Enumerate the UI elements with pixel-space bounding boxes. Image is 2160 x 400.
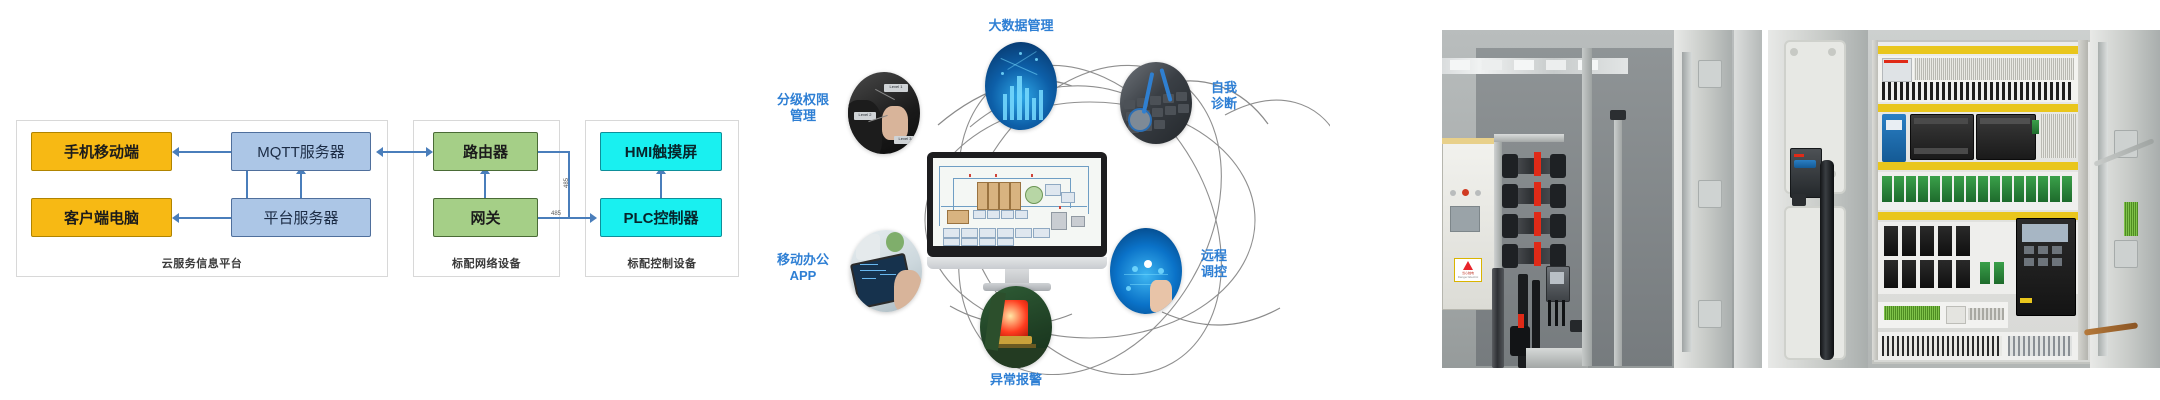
screenshot-root: 云服务信息平台 标配网络设备 标配控制设备: [0, 0, 2160, 400]
electric-warning-sticker: 当心触电 Danger Electric: [1454, 258, 1482, 282]
bar-chart-network-icon: [985, 42, 1057, 130]
bubble-label-authority: 分级权限 管理: [760, 92, 846, 125]
bubble-mobileapp[interactable]: [850, 230, 922, 312]
bubble-authority[interactable]: Level 1 Level 2 Level 3: [848, 72, 920, 154]
link-bus-to-plc-h: [568, 217, 592, 219]
bubble-alarm[interactable]: [980, 286, 1052, 368]
node-desktop-client[interactable]: 客户端电脑: [31, 198, 172, 237]
link-router-bus-h: [534, 151, 570, 153]
bubble-label-alarm: 异常报警: [956, 372, 1076, 388]
link-mqtt-router: [382, 151, 428, 153]
globe-network-icon: [1110, 228, 1182, 314]
link-platform-to-client-h: [178, 217, 232, 219]
bus-label-485-upper: 485: [564, 178, 570, 188]
node-router[interactable]: 路由器: [433, 132, 538, 171]
node-plc-controller[interactable]: PLC控制器: [600, 198, 722, 237]
level-chip-3: Level 3: [894, 136, 916, 144]
link-gateway-bus-h: [534, 217, 568, 219]
node-mobile-client[interactable]: 手机移动端: [31, 132, 172, 171]
group-cloud-platform-label: 云服务信息平台: [17, 255, 387, 271]
bubble-bigdata[interactable]: [985, 42, 1057, 130]
group-control-devices-label: 标配控制设备: [586, 255, 738, 271]
system-architecture-diagram: 云服务信息平台 标配网络设备 标配控制设备: [0, 0, 720, 400]
central-monitor: [927, 152, 1107, 292]
bubble-remote[interactable]: [1110, 228, 1182, 314]
capability-circle-infographic: 大数据管理 Level 1 Level 2 Level 3 分级权限 管理: [720, 0, 1440, 400]
tablet-hand-icon: [850, 230, 922, 312]
level-chip-1: Level 1: [884, 84, 908, 92]
arrow-router-right: [426, 147, 433, 157]
monitor-screen: [933, 158, 1101, 246]
node-platform-server[interactable]: 平台服务器: [231, 198, 371, 237]
stethoscope-laptop-icon: [1120, 62, 1192, 144]
arrow-mqtt-left: [376, 147, 383, 157]
node-gateway[interactable]: 网关: [433, 198, 538, 237]
permission-levels-icon: Level 1 Level 2 Level 3: [848, 72, 920, 154]
monitor-chin: [927, 257, 1107, 269]
warning-beacon-icon: [980, 286, 1052, 368]
equipment-photos: 当心触电 Danger Electric: [1440, 0, 2160, 400]
bubble-label-mobileapp: 移动办公 APP: [760, 252, 846, 285]
group-network-devices-label: 标配网络设备: [414, 255, 559, 271]
arrow-to-mobile: [172, 147, 179, 157]
node-hmi-panel[interactable]: HMI触摸屏: [600, 132, 722, 171]
photo-pump-cabinet: 当心触电 Danger Electric: [1442, 30, 1762, 368]
bubble-label-selfdiag: 自我 诊断: [1193, 80, 1255, 113]
node-mqtt-server[interactable]: MQTT服务器: [231, 132, 371, 171]
warning-sub-label: Danger Electric: [1455, 275, 1481, 279]
bubble-label-remote: 远程 调控: [1183, 248, 1245, 281]
bus-label-485-lower: 485: [551, 211, 561, 217]
arrow-to-plc: [590, 213, 597, 223]
bubble-selfdiag[interactable]: [1120, 62, 1192, 144]
bubble-label-bigdata: 大数据管理: [961, 18, 1081, 34]
arrow-to-client: [172, 213, 179, 223]
photo-plc-cabinet: [1768, 30, 2160, 368]
